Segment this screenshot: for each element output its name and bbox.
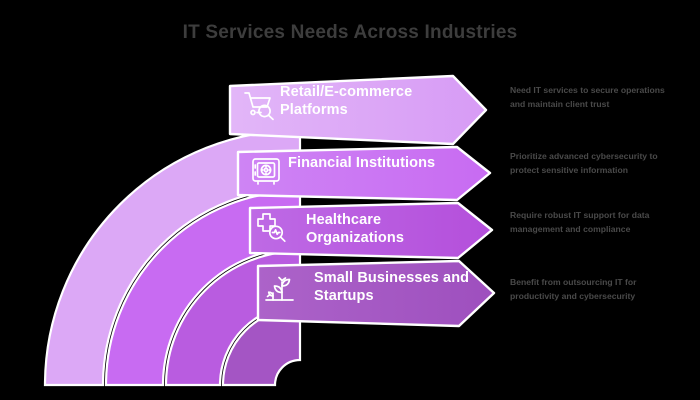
banner-label-healthcare-organizations: Healthcare Organizations xyxy=(306,212,476,247)
description-financial-institutions: Prioritize advanced cybersecurity to pro… xyxy=(510,150,682,177)
banner-label-small-businesses-startups: Small Businesses and Startups xyxy=(314,270,486,305)
banner-small-businesses-startups[interactable]: Small Businesses and Startups xyxy=(256,259,496,326)
description-small-businesses-startups: Benefit from outsourcing IT for producti… xyxy=(510,276,682,303)
banner-healthcare-organizations[interactable]: Healthcare Organizations xyxy=(248,201,494,258)
banner-retail-ecommerce[interactable]: Retail/E-commerce Platforms xyxy=(228,74,488,144)
description-retail-ecommerce: Need IT services to secure operations an… xyxy=(510,84,682,111)
plant-growth-icon xyxy=(262,273,296,307)
banner-financial-institutions[interactable]: Financial Institutions xyxy=(236,145,492,200)
banner-label-retail-ecommerce: Retail/E-commerce Platforms xyxy=(280,84,430,119)
infographic-canvas: IT Services Needs Across Industries xyxy=(0,0,700,400)
banner-label-financial-institutions: Financial Institutions xyxy=(288,155,448,173)
shopping-cart-search-icon xyxy=(242,88,276,122)
safe-vault-icon xyxy=(250,155,282,187)
medical-cross-heartbeat-icon xyxy=(254,211,288,245)
description-healthcare-organizations: Require robust IT support for data manag… xyxy=(510,209,682,236)
